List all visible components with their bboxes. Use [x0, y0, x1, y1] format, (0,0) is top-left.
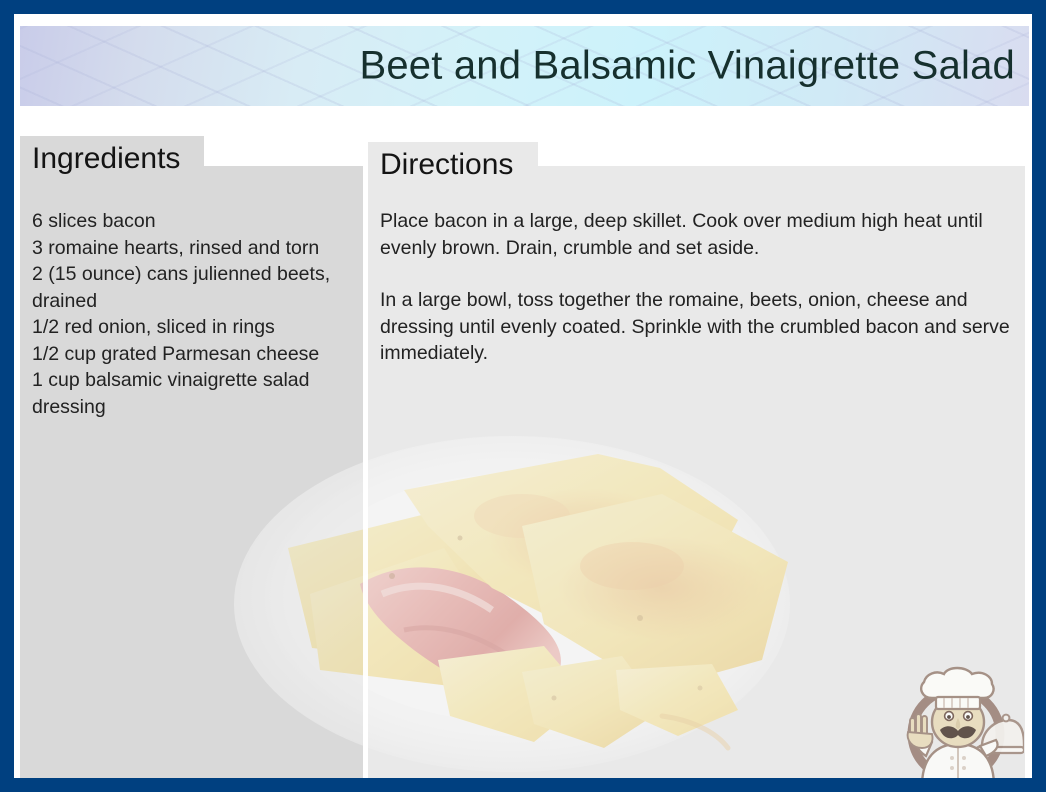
panel-gap-divider — [363, 166, 368, 786]
recipe-slide: Beet and Balsamic Vinaigrette Salad — [0, 0, 1046, 792]
chef-logo — [896, 660, 1024, 786]
ingredients-list: 6 slices bacon 3 romaine hearts, rinsed … — [32, 208, 362, 420]
content-area: Ingredients Directions 6 slices bacon 3 … — [14, 120, 1032, 792]
tab-directions[interactable]: Directions — [368, 142, 538, 188]
ingredients-heading: Ingredients — [32, 144, 180, 174]
page-title: Beet and Balsamic Vinaigrette Salad — [359, 44, 1015, 89]
direction-step-2: In a large bowl, toss together the romai… — [380, 287, 1030, 367]
direction-step-1: Place bacon in a large, deep skillet. Co… — [380, 208, 1030, 261]
directions-text: Place bacon in a large, deep skillet. Co… — [380, 208, 1030, 367]
tab-ingredients[interactable]: Ingredients — [20, 136, 204, 182]
directions-heading: Directions — [380, 150, 513, 180]
title-banner: Beet and Balsamic Vinaigrette Salad — [20, 26, 1029, 106]
